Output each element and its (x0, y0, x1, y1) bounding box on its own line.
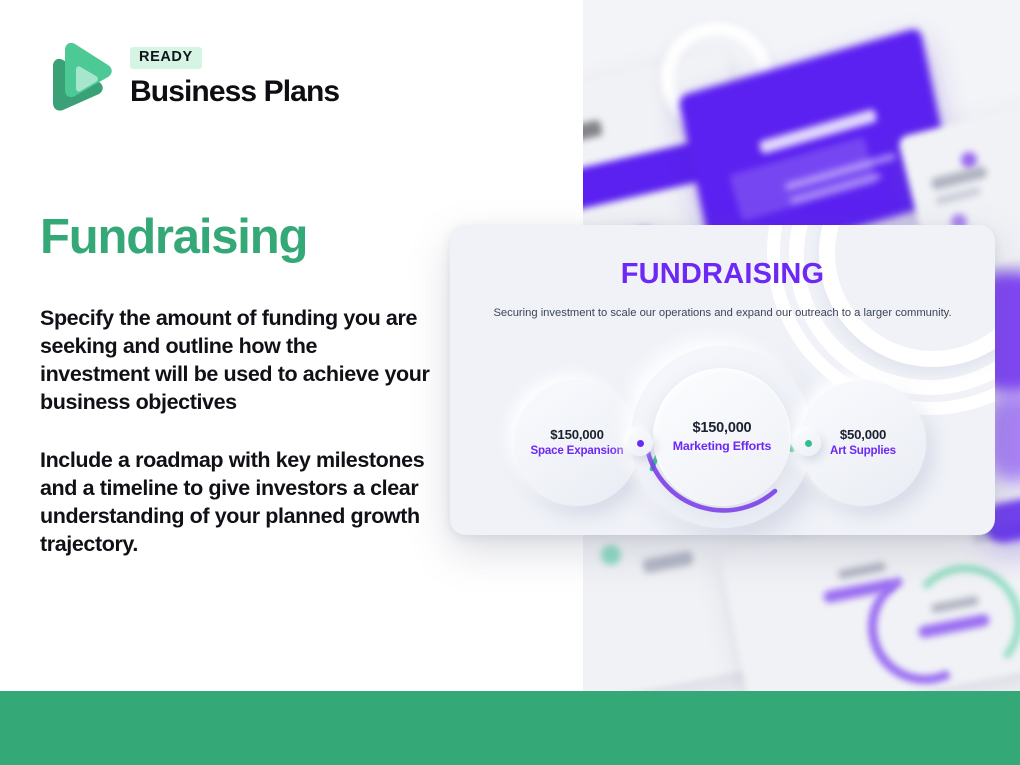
bg-dot-purple-right (961, 152, 977, 168)
page-title: Fundraising (40, 212, 307, 263)
funding-amount: $150,000 (550, 428, 603, 443)
paragraph-2: Include a roadmap with key milestones an… (40, 447, 430, 559)
funding-caption: Marketing Efforts (673, 440, 772, 454)
ready-badge: READY (130, 47, 202, 69)
fundraising-slide-card: FUNDRAISING Securing investment to scale… (450, 225, 995, 535)
brand-text: READY Business Plans (130, 47, 339, 107)
card-subtitle: Securing investment to scale our operati… (450, 305, 995, 321)
paragraph-1: Specify the amount of funding you are se… (40, 305, 430, 417)
body-copy: Specify the amount of funding you are se… (40, 305, 430, 559)
funding-item-center: $150,000 Marketing Efforts (631, 346, 813, 528)
funding-allocation-chart: $150,000 Space Expansion $150,000 Market… (450, 370, 995, 530)
connector-dot-left (627, 430, 653, 456)
funding-caption: Art Supplies (830, 445, 896, 458)
brand-name: Business Plans (130, 76, 339, 108)
funding-amount: $50,000 (840, 428, 886, 443)
funding-amount: $150,000 (693, 421, 752, 437)
slide-canvas: READY Business Plans Fundraising Specify… (0, 0, 1020, 765)
footer-bar (0, 691, 1020, 765)
connector-dot-left-core (637, 440, 644, 447)
bg-dot-green-lower (601, 545, 621, 565)
connector-dot-right-core (805, 440, 812, 447)
connector-dot-right (795, 430, 821, 456)
center-circle-inner: $150,000 Marketing Efforts (653, 368, 791, 506)
play-triangle-logo-icon (40, 40, 114, 114)
funding-caption: Space Expansion (530, 445, 623, 458)
funding-item-left: $150,000 Space Expansion (514, 380, 640, 506)
card-title: FUNDRAISING (450, 258, 995, 291)
brand-logo-lockup: READY Business Plans (40, 40, 339, 114)
